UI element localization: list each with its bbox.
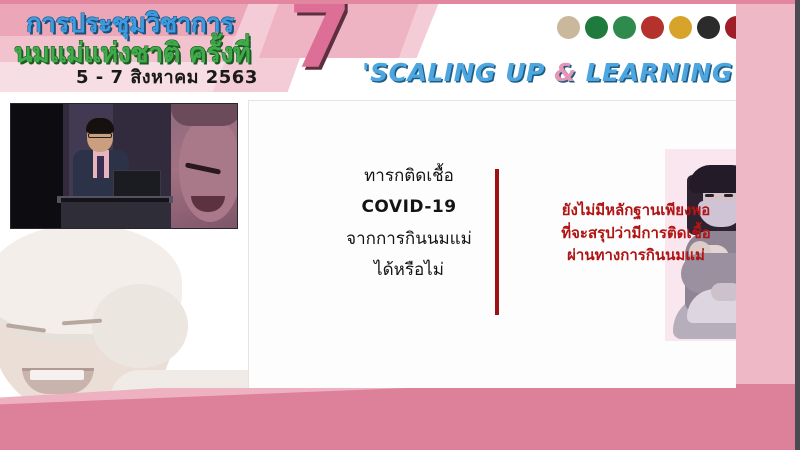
answer-line-3: ผ่านทางการกินนมแม่: [507, 244, 765, 267]
question-line-2: COVID-19: [319, 192, 499, 223]
video-baby-hair: [171, 104, 238, 126]
slide-content-panel: ทารกติดเชื้อ COVID-19 จากการกินนมแม่ ได้…: [248, 100, 786, 390]
vertical-red-divider: [495, 169, 499, 315]
question-line-1: ทารกติดเชื้อ: [319, 161, 499, 192]
royal-crest-logo: [669, 16, 692, 39]
frame-top-edge: [0, 0, 795, 4]
mother-eye-right: [724, 194, 733, 197]
thai-breastfeeding-center-logo: [613, 16, 636, 39]
answer-line-1: ยังไม่มีหลักฐานเพียงพอ: [507, 199, 765, 222]
mother-eye-left: [705, 194, 714, 197]
speaker-presentation-video[interactable]: [10, 103, 238, 229]
baby-teeth: [30, 370, 84, 380]
speaker-tie: [97, 156, 104, 178]
right-pink-strip: [736, 0, 800, 450]
answer-line-2: ที่จะสรุปว่ามีการติดเชื้อ: [507, 222, 765, 245]
conference-slogan: 'SCALING UP & LEARNING MORE': [362, 58, 795, 87]
question-line-4: ได้หรือไม่: [319, 255, 499, 286]
speaker-glasses: [88, 133, 112, 138]
video-wall-left: [11, 104, 63, 229]
answer-text-block: ยังไม่มีหลักฐานเพียงพอ ที่จะสรุปว่ามีการ…: [507, 199, 765, 267]
conference-header-banner: การประชุมวิชาการ นมแม่แห่งชาติ ครั้งที่ …: [0, 0, 795, 97]
slogan-part-1: 'SCALING UP: [362, 58, 554, 87]
presentation-slide: ทารกติดเชื้อ COVID-19 จากการกินนมแม่ ได้…: [0, 0, 800, 450]
conference-date: 5 - 7 สิงหาคม 2563: [76, 62, 258, 91]
frame-right-edge: [795, 0, 800, 450]
speaker-hair: [86, 118, 114, 133]
red-institute-logo: [641, 16, 664, 39]
podium: [61, 198, 169, 229]
conference-edition-number: 7: [288, 0, 352, 82]
baby-hat-brim: [92, 284, 188, 368]
black-seal-logo: [697, 16, 720, 39]
bottom-pink-band: [0, 388, 795, 450]
question-line-3: จากการกินนมแม่: [319, 224, 499, 255]
slogan-ampersand: &: [554, 58, 576, 87]
question-text-block: ทารกติดเชื้อ COVID-19 จากการกินนมแม่ ได้…: [319, 161, 499, 287]
ministry-public-health-logo: [585, 16, 608, 39]
royal-emblem-logo: [557, 16, 580, 39]
